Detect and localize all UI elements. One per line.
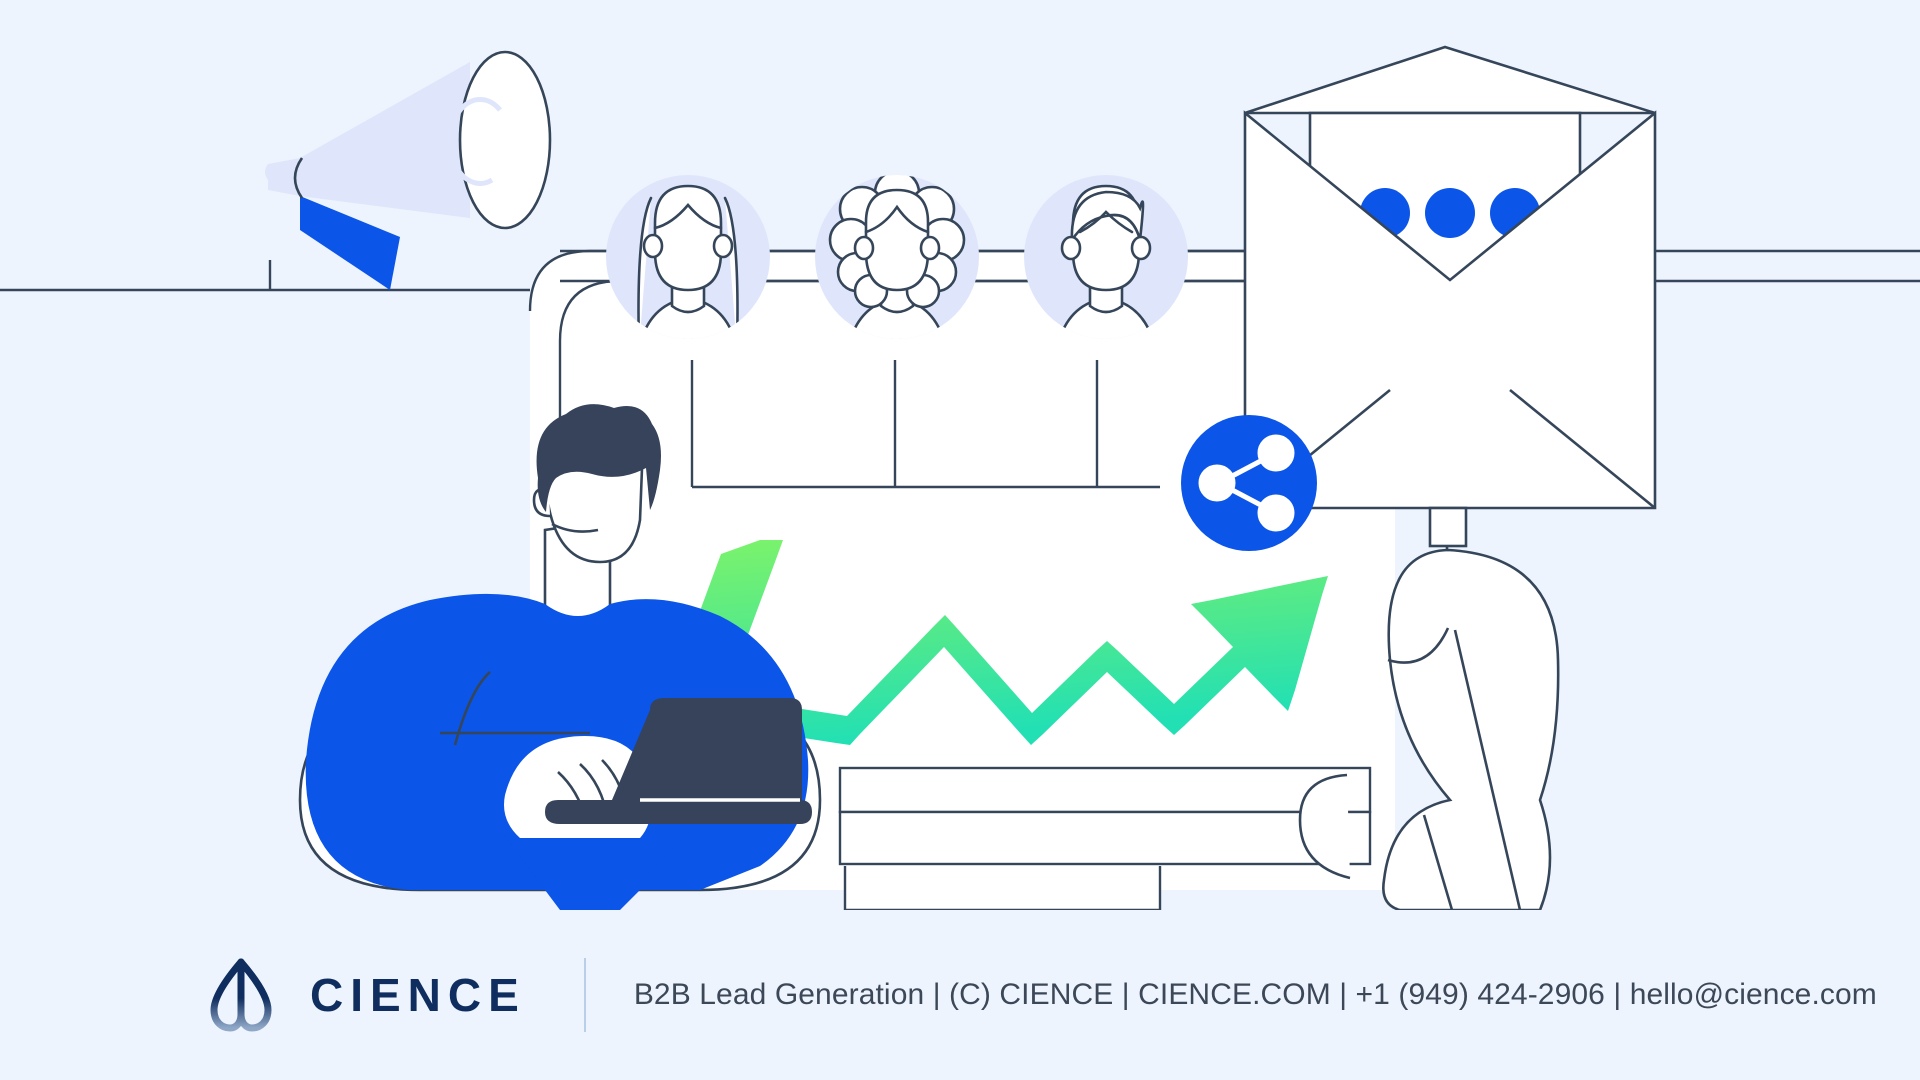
- cience-brand[interactable]: CIENCE: [198, 958, 526, 1032]
- footer-bar: CIENCE B2B Lead Generation | (C) CIENCE …: [0, 910, 1920, 1080]
- share-icon: [1181, 415, 1317, 551]
- cience-logo-mark: [198, 958, 284, 1032]
- page-root: CIENCE B2B Lead Generation | (C) CIENCE …: [0, 0, 1920, 1080]
- illustration-canvas: [0, 0, 1920, 910]
- cience-wordmark: CIENCE: [310, 972, 526, 1018]
- laptop-base: [545, 800, 812, 824]
- footer-divider: [584, 958, 586, 1032]
- message-dot: [1425, 188, 1475, 238]
- footer-contact-info: B2B Lead Generation | (C) CIENCE | CIENC…: [634, 978, 1877, 1012]
